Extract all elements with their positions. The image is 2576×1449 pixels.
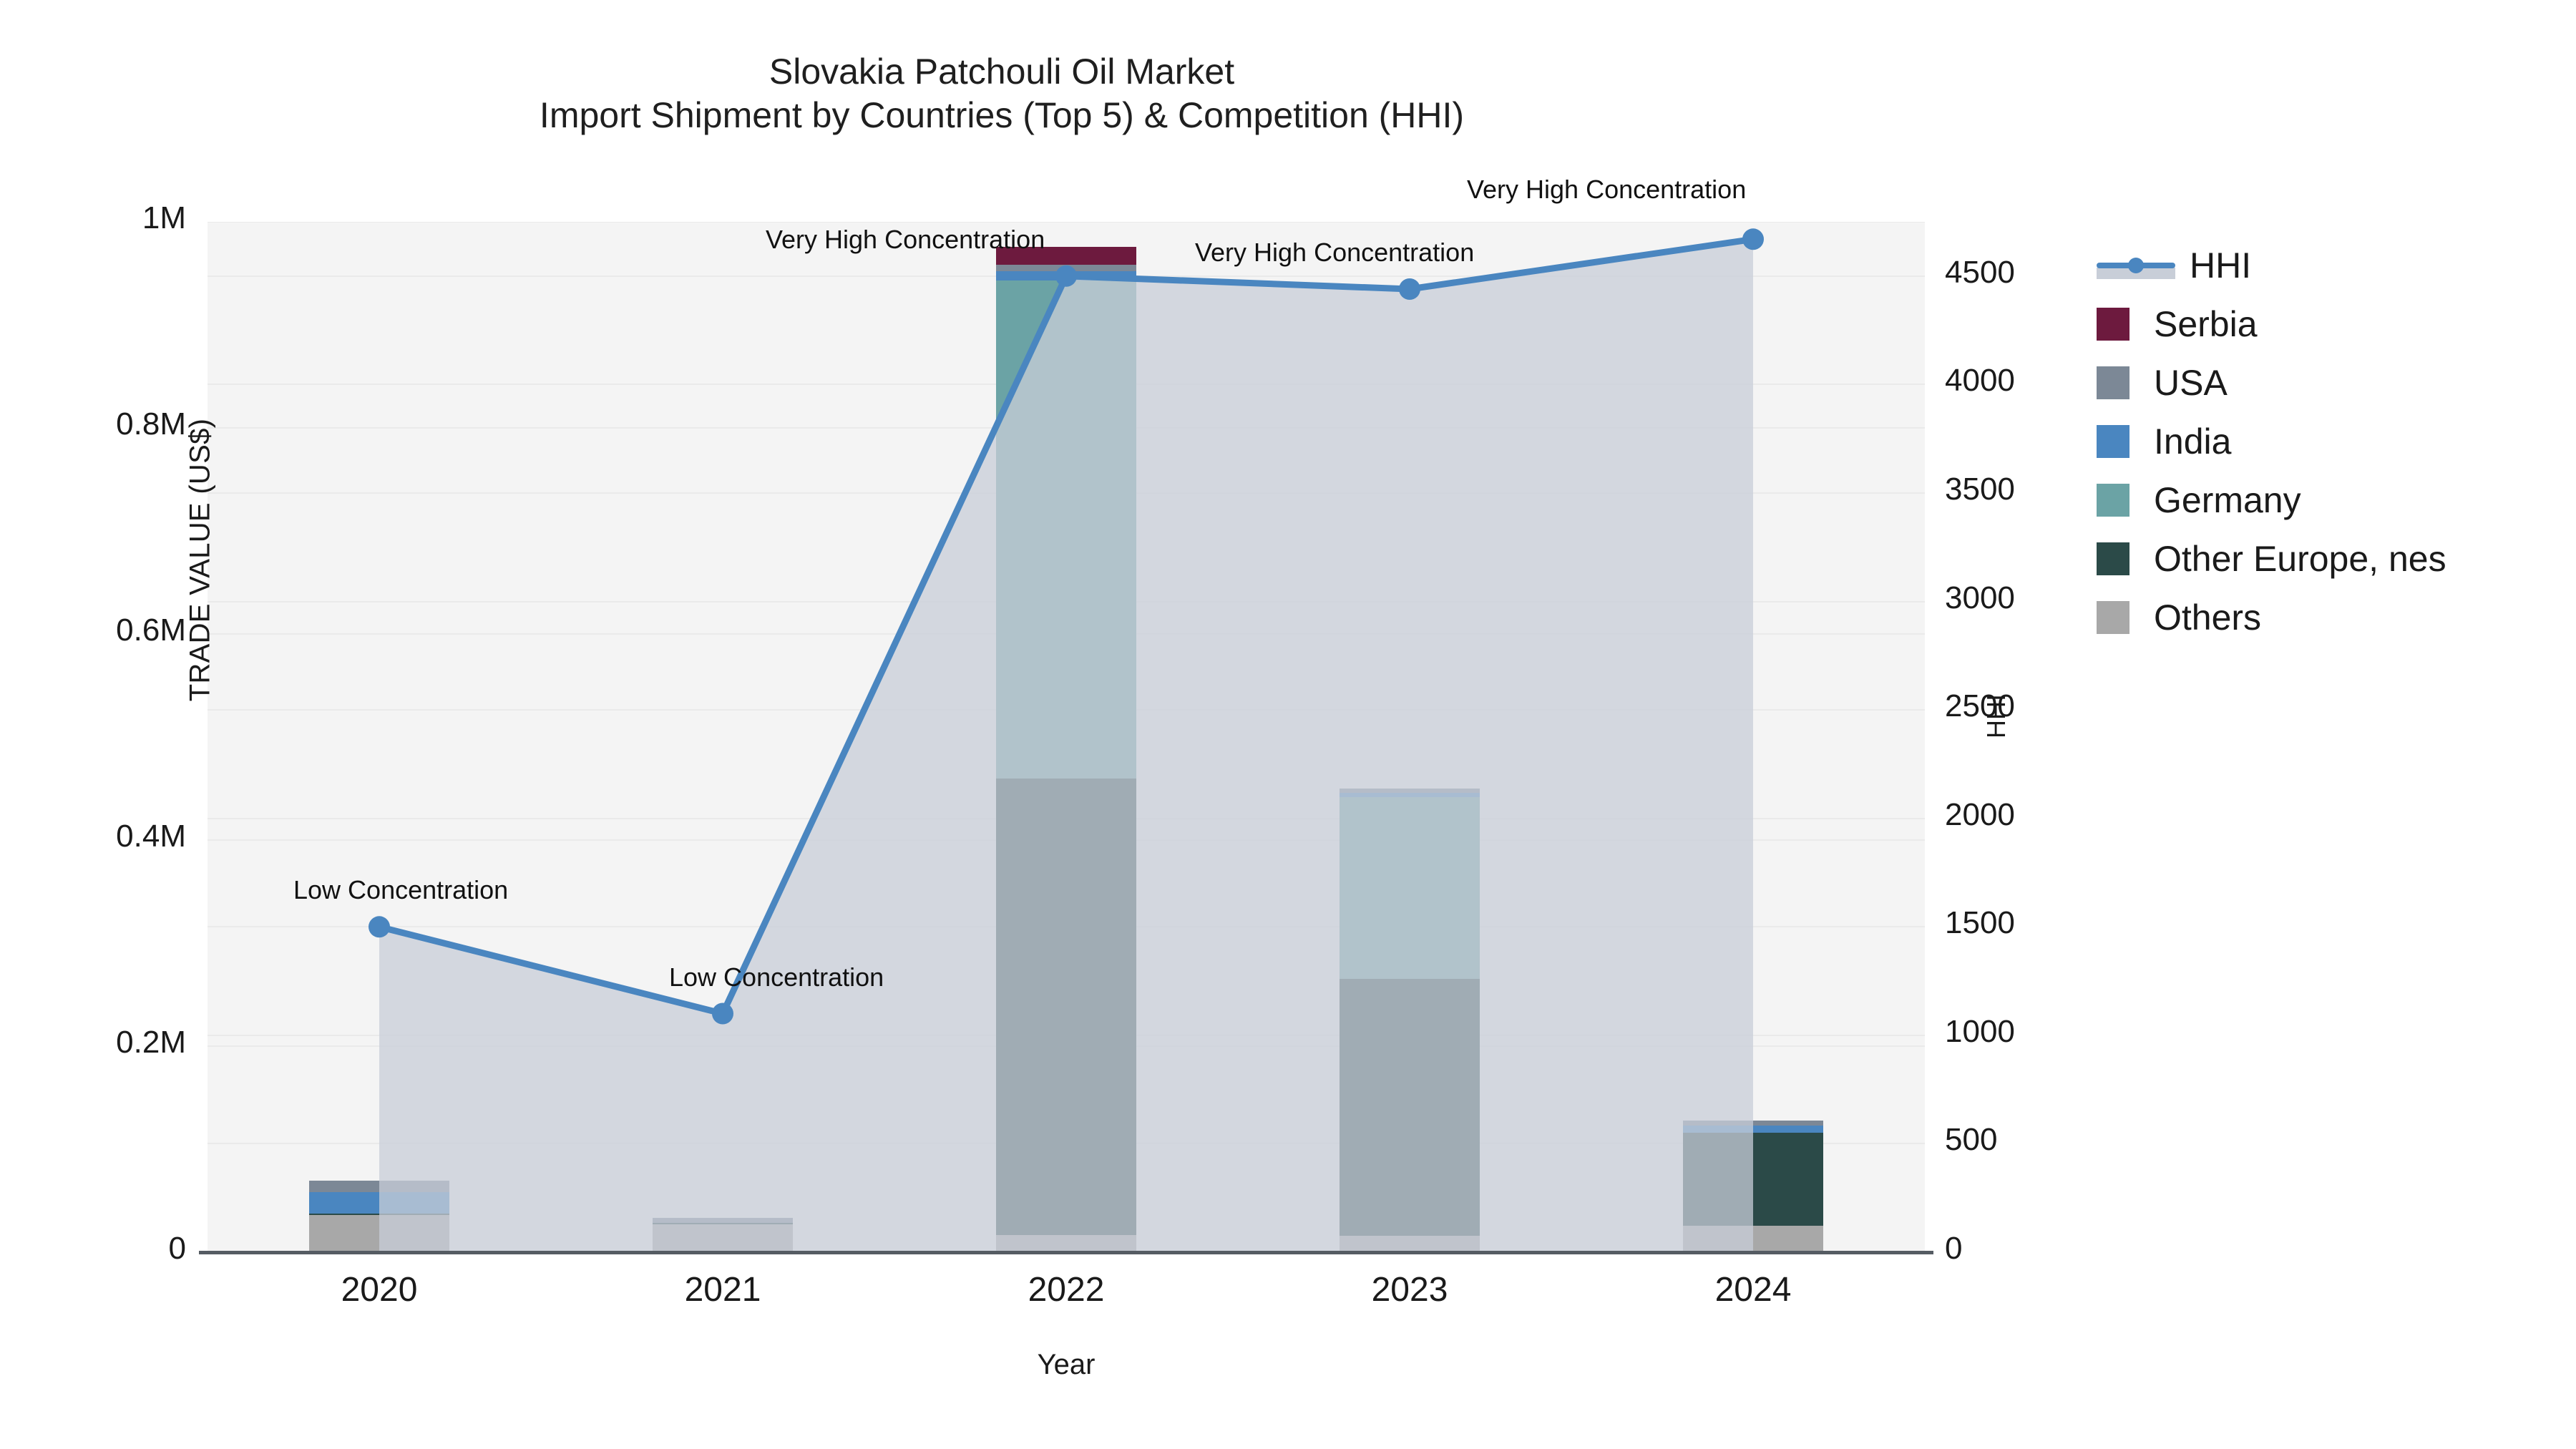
bar-segment[interactable] (653, 1218, 793, 1223)
legend-item-label: Others (2154, 597, 2261, 638)
chart-title-block: Slovakia Patchouli Oil Market Import Shi… (0, 50, 2004, 137)
legend-swatch-icon (2097, 542, 2129, 575)
x-axis-tick-label: 2021 (580, 1270, 866, 1309)
hhi-annotation-label: Very High Concentration (1195, 238, 1474, 268)
legend-item-serbia[interactable]: Serbia (2097, 295, 2569, 353)
x-axis-tick-label: 2022 (923, 1270, 1209, 1309)
legend-item-germany[interactable]: Germany (2097, 471, 2569, 530)
bar-segment[interactable] (1683, 1226, 1823, 1252)
legend-item-hhi[interactable]: HHI (2097, 236, 2569, 295)
bar-segment[interactable] (309, 1214, 449, 1215)
y-axis-right-tick-label: 1500 (1945, 905, 2131, 941)
hhi-annotation-label: Very High Concentration (766, 225, 1045, 255)
bar-segment[interactable] (653, 1224, 793, 1252)
bar-segment[interactable] (309, 1215, 449, 1252)
y-axis-right-tick-label: 0 (1945, 1231, 2131, 1267)
y-axis-right-tick-label: 2000 (1945, 797, 2131, 833)
y-axis-right-tick-label: 500 (1945, 1122, 2131, 1158)
legend-item-india[interactable]: India (2097, 412, 2569, 471)
bar-segment[interactable] (1340, 979, 1480, 1236)
bar-segment[interactable] (996, 779, 1136, 1235)
bar-segment[interactable] (309, 1192, 449, 1214)
hhi-annotation-label: Low Concentration (669, 962, 884, 992)
bar-segment[interactable] (1340, 793, 1480, 797)
bar-segment[interactable] (309, 1181, 449, 1192)
x-axis-line (199, 1251, 1933, 1254)
legend-item-label: HHI (2190, 245, 2251, 286)
gridline (208, 222, 1925, 223)
bar-segment[interactable] (1340, 789, 1480, 793)
legend-item-label: India (2154, 421, 2231, 462)
bar-segment[interactable] (996, 1235, 1136, 1252)
bar-segment[interactable] (1683, 1121, 1823, 1126)
legend-swatch-icon (2097, 425, 2129, 458)
bar-segment[interactable] (996, 280, 1136, 779)
plot-area (208, 222, 1925, 1252)
legend-item-label: Other Europe, nes (2154, 538, 2446, 580)
legend-swatch-icon (2097, 484, 2129, 517)
x-axis-tick-label: 2023 (1267, 1270, 1553, 1309)
y-axis-right-tick-label: 2500 (1945, 688, 2131, 724)
y-axis-left-tick-label: 0 (7, 1231, 186, 1267)
legend-item-label: USA (2154, 362, 2228, 404)
x-axis-title: Year (0, 1349, 2132, 1381)
legend-swatch-icon (2097, 308, 2129, 341)
y-axis-left-title: TRADE VALUE (US$) (185, 310, 217, 811)
chart-legend: HHISerbiaUSAIndiaGermanyOther Europe, ne… (2097, 236, 2569, 647)
chart-canvas: Slovakia Patchouli Oil Market Import Shi… (0, 0, 2576, 1449)
legend-item-label: Serbia (2154, 303, 2258, 345)
chart-title: Slovakia Patchouli Oil Market (0, 50, 2004, 94)
bar-segment[interactable] (653, 1223, 793, 1224)
legend-item-others[interactable]: Others (2097, 588, 2569, 647)
bar-segment[interactable] (1340, 1236, 1480, 1252)
y-axis-left-tick-label: 1M (7, 200, 186, 236)
hhi-line-icon (2097, 249, 2175, 282)
hhi-annotation-label: Very High Concentration (1467, 175, 1746, 205)
legend-item-label: Germany (2154, 479, 2301, 521)
bar-segment[interactable] (996, 265, 1136, 271)
chart-subtitle: Import Shipment by Countries (Top 5) & C… (0, 94, 2004, 137)
legend-item-usa[interactable]: USA (2097, 353, 2569, 412)
y-axis-left-tick-label: 0.8M (7, 406, 186, 442)
y-axis-left-tick-label: 0.4M (7, 819, 186, 854)
x-axis-tick-label: 2020 (236, 1270, 522, 1309)
y-axis-right-title: HHI (1981, 573, 2011, 859)
bar-segment[interactable] (996, 271, 1136, 280)
y-axis-left-tick-label: 0.2M (7, 1025, 186, 1060)
legend-swatch-icon (2097, 601, 2129, 634)
y-axis-left-tick-label: 0.6M (7, 613, 186, 648)
x-axis-tick-label: 2024 (1610, 1270, 1896, 1309)
legend-item-other-europe-nes[interactable]: Other Europe, nes (2097, 530, 2569, 588)
bar-segment[interactable] (1340, 797, 1480, 980)
y-axis-right-tick-label: 1000 (1945, 1014, 2131, 1050)
hhi-annotation-label: Low Concentration (293, 875, 508, 905)
bar-segment[interactable] (1683, 1126, 1823, 1133)
bar-segment[interactable] (1683, 1133, 1823, 1226)
legend-swatch-icon (2097, 366, 2129, 399)
